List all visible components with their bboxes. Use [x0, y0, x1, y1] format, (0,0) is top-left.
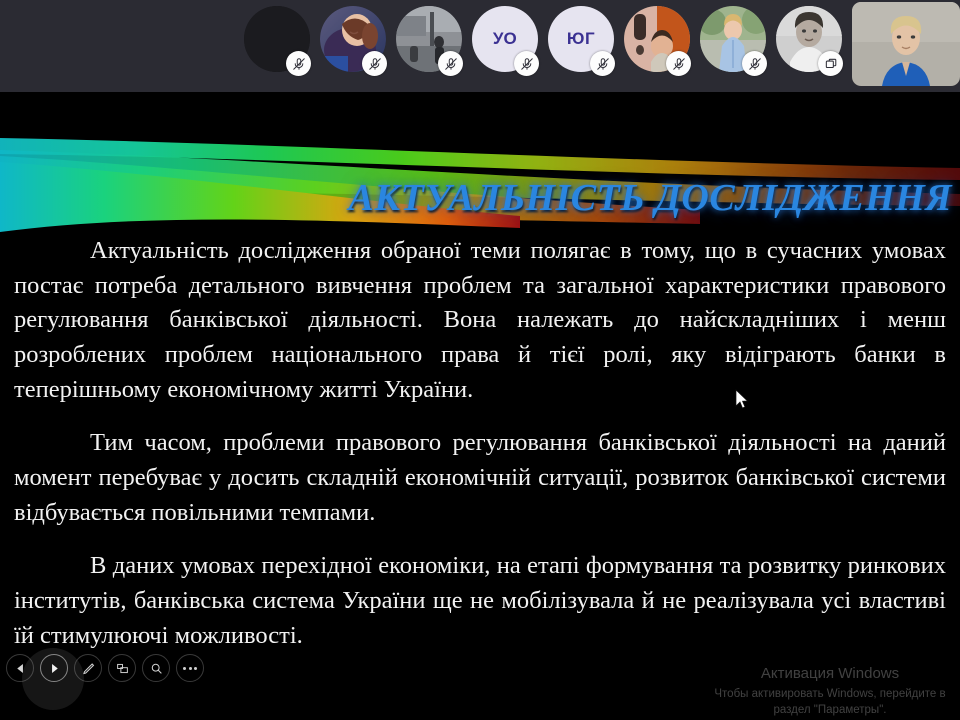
- slide-canvas: АКТУАЛЬНІСТЬ ДОСЛІДЖЕННЯ Актуальність до…: [0, 92, 960, 720]
- participant-tile-3[interactable]: [396, 6, 462, 84]
- video-image-woman-blue-shirt: [852, 2, 960, 86]
- mic-muted-icon: [666, 51, 691, 76]
- more-options-button[interactable]: [176, 654, 204, 682]
- watermark-title: Активация Windows: [710, 664, 950, 684]
- participant-tile-1[interactable]: [244, 6, 310, 84]
- watermark-subtitle: Чтобы активировать Windows, перейдите в …: [710, 687, 950, 718]
- mic-muted-icon: [514, 51, 539, 76]
- next-slide-button[interactable]: [40, 654, 68, 682]
- participant-tile-4[interactable]: УО: [472, 6, 538, 84]
- mic-muted-icon: [742, 51, 767, 76]
- magnifier-icon: [150, 662, 163, 675]
- ellipsis-icon: [183, 667, 197, 670]
- participant-tile-5[interactable]: ЮГ: [548, 6, 614, 84]
- mic-muted-icon: [438, 51, 463, 76]
- pen-icon: [82, 662, 95, 675]
- slide-title: АКТУАЛЬНІСТЬ ДОСЛІДЖЕННЯ: [0, 176, 952, 220]
- slide-paragraph-3: В даних умовах перехідної економіки, на …: [14, 549, 946, 653]
- mic-muted-icon: [362, 51, 387, 76]
- slide-paragraph-2: Тим часом, проблеми правового регулюванн…: [14, 426, 946, 530]
- triangle-left-icon: [14, 662, 27, 675]
- zoom-button[interactable]: [142, 654, 170, 682]
- pen-tool-button[interactable]: [74, 654, 102, 682]
- presentation-screen: УО ЮГ: [0, 0, 960, 720]
- mic-muted-icon: [590, 51, 615, 76]
- slides-grid-icon: [116, 662, 129, 675]
- previous-slide-button[interactable]: [6, 654, 34, 682]
- participant-tile-9-active-video[interactable]: [852, 2, 960, 86]
- participant-tile-6[interactable]: [624, 6, 690, 84]
- slideshow-toolbar: [0, 650, 250, 720]
- participant-tile-2[interactable]: [320, 6, 386, 84]
- video-feed: [852, 2, 960, 86]
- participant-tile-7[interactable]: [700, 6, 766, 84]
- mic-muted-icon: [286, 51, 311, 76]
- screen-share-icon: [818, 51, 843, 76]
- all-slides-button[interactable]: [108, 654, 136, 682]
- participant-tile-8[interactable]: [776, 6, 842, 84]
- participant-strip: УО ЮГ: [0, 0, 960, 92]
- windows-activation-watermark: Активация Windows Чтобы активировать Win…: [710, 664, 950, 718]
- slide-paragraph-1: Актуальність дослідження обраної теми по…: [14, 234, 946, 407]
- slide-body-text: Актуальність дослідження обраної теми по…: [14, 234, 946, 653]
- triangle-right-icon: [48, 662, 61, 675]
